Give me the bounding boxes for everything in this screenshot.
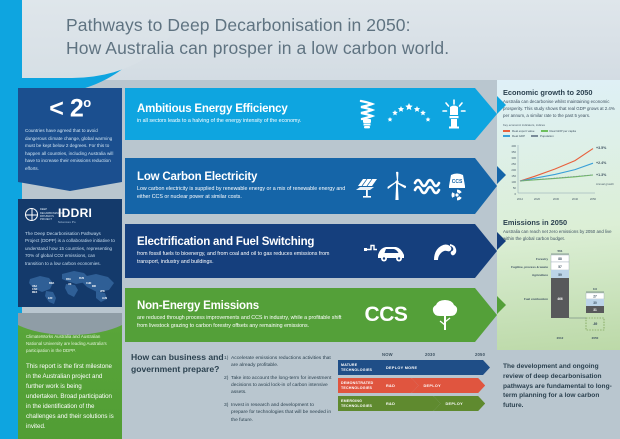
svg-text:UK: UK [68, 283, 72, 286]
timeline-segment-deploy-more: DEPLOY MORE [380, 360, 490, 375]
svg-text:BRA: BRA [49, 282, 54, 285]
band-icon-group [352, 238, 487, 264]
timeline-segment-deploy: DEPLOY [434, 396, 486, 411]
label-fuel-combustion: Fuel combustion [524, 297, 548, 301]
list-item: 1) Accelerate emissions reductions activ… [224, 355, 332, 370]
prepare-list: 1) Accelerate emissions reductions activ… [224, 355, 332, 429]
band-title: Low Carbon Electricity [137, 171, 352, 183]
series-end-labels: +3.5% +2.4% +1.3% [596, 146, 607, 177]
climateworks-card: ClimateWorks Australia and Australian Na… [18, 313, 122, 439]
timeline-label-line2: TECHNOLOGIES [341, 368, 372, 372]
svg-text:300: 300 [511, 156, 516, 160]
label-fugitive: Fugitive, process & waste [511, 265, 548, 269]
svg-text:2020: 2020 [534, 197, 541, 201]
list-item-text: Invest in research and development to pr… [231, 402, 332, 424]
timeline-row-mature: MATURE TECHNOLOGIES DEPLOY MORE [338, 360, 490, 375]
timeline-tick-2050: 2050 [475, 352, 485, 357]
svg-text:CCS: CCS [452, 179, 463, 185]
emissions-title: Emissions in 2050 [503, 218, 615, 227]
band-non-energy-emissions[interactable]: Non-Energy Emissions are reduced through… [125, 288, 497, 342]
y-axis-ticks: 400350 300250 200150 10050 0 [511, 144, 516, 196]
band-low-carbon-electricity[interactable]: Low Carbon Electricity Low carbon electr… [125, 158, 497, 214]
legend-title: Key economic indicators, indices [503, 123, 615, 127]
band-body: are reduced through process improvements… [137, 314, 352, 330]
iddri-card: DEEP DECARBONIZATION PATHWAYS PROJECT ID… [18, 199, 122, 307]
value-fuel-combustion-2050: 31 [593, 308, 597, 312]
timeline-tick-now: NOW [382, 352, 393, 357]
svg-text:150: 150 [511, 174, 516, 178]
value-fugitive-2012: 57 [558, 265, 562, 269]
title-line-2: How Australia can prosper in a low carbo… [66, 37, 586, 60]
svg-text:0: 0 [514, 192, 516, 196]
left-column: < 2o Countries have agreed that to avoid… [18, 88, 122, 439]
compact-fluorescent-bulb-icon [357, 99, 377, 129]
timeline-tick-2030: 2030 [425, 352, 435, 357]
x-axis-ticks: 2012 2020 2030 2040 2050 [517, 197, 597, 201]
growth-description: Australia can decarbonise whilst maintai… [503, 99, 615, 119]
timeline-segment-rd: R&D [380, 396, 441, 411]
band-body: Low carbon electricity is supplied by re… [137, 185, 352, 201]
legend-swatch [541, 130, 548, 131]
band-ambitious-energy-efficiency[interactable]: Ambitious Energy Efficiency in all secto… [125, 88, 497, 140]
stars-arc-icon [386, 102, 432, 126]
iddri-wordmark: IDDRI [58, 206, 92, 220]
legend-label: Real GDP [512, 134, 525, 138]
value-net-negative-2050: -89 [593, 322, 598, 326]
solar-panel-icon [355, 174, 381, 198]
svg-text:RUS: RUS [79, 277, 84, 280]
two-degrees-symbol: < 2 [49, 94, 83, 122]
svg-text:400: 400 [511, 144, 516, 148]
two-degrees-pointer [18, 182, 122, 191]
value-agriculture-2050: 30 [593, 301, 597, 305]
value-agriculture-2012: 59 [558, 273, 562, 277]
timeline-row-emerging: EMERGING TECHNOLOGIES R&D DEPLOY [338, 396, 490, 411]
band-title: Non-Energy Emissions [137, 300, 352, 312]
timeline-label-line2: TECHNOLOGIES [341, 404, 372, 408]
list-item: 3) Invest in research and development to… [224, 402, 332, 424]
svg-text:2040: 2040 [572, 197, 579, 201]
timeline-track: DEPLOY MORE [380, 360, 490, 375]
legend-label: Population [540, 134, 554, 138]
svg-text:JPN: JPN [100, 290, 105, 293]
led-lamp-icon [442, 99, 466, 129]
climateworks-big-body: This report is the first milestone in th… [26, 362, 114, 432]
timeline-segment-rd: R&D [380, 378, 419, 393]
timeline-track: R&D DEPLOY [380, 378, 490, 393]
band-icon-group [352, 99, 487, 129]
title-line-1: Pathways to Deep Decarbonisation in 2050… [66, 15, 411, 35]
page-title: Pathways to Deep Decarbonisation in 2050… [66, 14, 586, 60]
svg-text:350: 350 [511, 150, 516, 154]
svg-text:AUS: AUS [102, 297, 107, 300]
legend-swatch [503, 135, 510, 136]
ddpp-logo: DEEP DECARBONIZATION PATHWAYS PROJECT [25, 207, 53, 222]
legend-item: Real export value [503, 129, 535, 133]
x-label-2050: 2050 [592, 336, 599, 340]
list-item-number: 2) [224, 375, 231, 397]
nuclear-plant-icon: CCS [446, 171, 468, 201]
band-title: Electrification and Fuel Switching [137, 236, 352, 248]
iddri-sub-label: Sciences Po [58, 220, 92, 224]
band-title: Ambitious Energy Efficiency [137, 103, 352, 115]
conclusion-block: The development and ongoing review of de… [503, 362, 615, 411]
list-item-text: Accelerate emissions reductions activiti… [231, 355, 332, 370]
growth-line-plot: 400350 300250 200150 10050 0 +3.5% +2.4% [503, 140, 615, 202]
total-2012: 561 [557, 249, 562, 253]
value-fuel-combustion-2012: 466 [557, 297, 563, 301]
list-item-number: 3) [224, 402, 231, 424]
infographic-canvas: Pathways to Deep Decarbonisation in 2050… [0, 0, 620, 439]
degree-symbol: o [83, 95, 90, 110]
emissions-stacked-bars: 561 88 Forestry 57 Fugitive, process & w… [503, 246, 615, 342]
endlabel-gdp: +2.4% [596, 161, 607, 165]
conclusion-text: The development and ongoing review of de… [503, 362, 615, 411]
tree-icon [432, 298, 458, 332]
svg-text:100: 100 [511, 180, 516, 184]
emissions-description: Australia can reach net zero emissions b… [503, 229, 615, 243]
legend-swatch [503, 130, 510, 131]
iddri-logo: IDDRI Sciences Po [58, 206, 92, 224]
svg-text:2012: 2012 [517, 197, 524, 201]
wind-turbine-icon [386, 171, 408, 201]
two-degrees-body: Countries have agreed that to avoid dang… [25, 127, 115, 172]
ccs-text-icon: CCS [365, 303, 408, 327]
svg-text:ZAF: ZAF [48, 297, 53, 300]
svg-text:CHN: CHN [86, 282, 91, 285]
x-label-2012: 2012 [557, 336, 564, 340]
globe-icon [25, 208, 38, 221]
timeline-label-line2: TECHNOLOGIES [341, 386, 373, 390]
label-forestry: Forestry [536, 257, 548, 261]
iddri-logo-row: DEEP DECARBONIZATION PATHWAYS PROJECT ID… [25, 206, 115, 224]
svg-text:2030: 2030 [553, 197, 560, 201]
hydro-waves-icon [413, 175, 441, 197]
svg-text:MEX: MEX [32, 291, 38, 294]
prepare-heading-block: How can business and government prepare? [131, 352, 227, 375]
emissions-bar-chart: 561 88 Forestry 57 Fugitive, process & w… [503, 246, 615, 342]
legend-label: Real export value [512, 129, 535, 133]
timeline-axis: NOW 2030 2050 [380, 352, 490, 360]
two-degrees-headline: < 2o [25, 96, 115, 121]
value-forestry-2012: 88 [558, 257, 562, 261]
legend-swatch [531, 135, 538, 136]
timeline-row-demonstrated: DEMONSTRATED TECHNOLOGIES R&D DEPLOY [338, 378, 490, 393]
technology-timeline: NOW 2030 2050 MATURE TECHNOLOGIES DEPLOY… [338, 352, 490, 414]
endlabel-export: +3.5% [596, 146, 607, 150]
total-2050: 0.0 [593, 287, 598, 291]
legend-item: Real GDP [503, 134, 525, 138]
prepare-heading: How can business and government prepare? [131, 352, 227, 375]
svg-text:200: 200 [511, 168, 516, 172]
band-icon-group: CCS [352, 298, 487, 332]
timeline-segment-deploy: DEPLOY [412, 378, 486, 393]
svg-text:2050: 2050 [590, 197, 597, 201]
emissions-card: Emissions in 2050 Australia can reach ne… [503, 218, 615, 342]
fuel-nozzle-icon [431, 238, 459, 264]
growth-annotation: Annual growth [596, 182, 614, 186]
list-item-number: 1) [224, 355, 231, 370]
svg-text:50: 50 [513, 186, 517, 190]
list-item: 2) Take into account the long-term for i… [224, 375, 332, 397]
timeline-label-line1: DEMONSTRATED [341, 381, 373, 385]
label-agriculture: Agriculture [532, 273, 548, 277]
two-degrees-card: < 2o Countries have agreed that to avoid… [18, 88, 122, 182]
svg-text:250: 250 [511, 162, 516, 166]
band-electrification-and-fuel-switching[interactable]: Electrification and Fuel Switching from … [125, 224, 497, 278]
growth-title: Economic growth to 2050 [503, 88, 615, 97]
economic-growth-card: Economic growth to 2050 Australia can de… [503, 88, 615, 202]
endlabel-gdppc: +1.3% [596, 173, 607, 177]
iddri-body: The Deep Decarbonisation Pathways Projec… [25, 230, 115, 267]
climateworks-small-body: ClimateWorks Australia and Australian Na… [26, 333, 114, 354]
electric-car-icon [364, 239, 408, 263]
list-item-text: Take into account the long-term for inve… [231, 375, 332, 397]
world-map-icon: USACANMEX BRAFRAUK RUSCHNIND JPNZAFAUS [22, 265, 118, 305]
legend-item: Real GDP per capita [541, 129, 576, 133]
band-body: from fossil fuels to bioenergy, and from… [137, 250, 352, 266]
timeline-track: R&D DEPLOY [380, 396, 490, 411]
svg-text:FRA: FRA [66, 278, 71, 281]
economic-growth-chart: 400350 300250 200150 10050 0 +3.5% +2.4% [503, 140, 615, 202]
timeline-row-label: DEMONSTRATED TECHNOLOGIES [338, 378, 380, 393]
band-body: in all sectors leads to a halving of the… [137, 117, 352, 125]
legend-item: Population [531, 134, 554, 138]
timeline-row-label: MATURE TECHNOLOGIES [338, 360, 380, 375]
growth-chart-legend: Key economic indicators, indices Real ex… [503, 123, 615, 138]
value-fugitive-2050: 27 [593, 294, 597, 298]
decorative-hill [18, 313, 122, 335]
band-icon-group: CCS [352, 171, 487, 201]
svg-text:IND: IND [92, 285, 96, 288]
timeline-row-label: EMERGING TECHNOLOGIES [338, 396, 380, 411]
legend-label: Real GDP per capita [550, 129, 576, 133]
